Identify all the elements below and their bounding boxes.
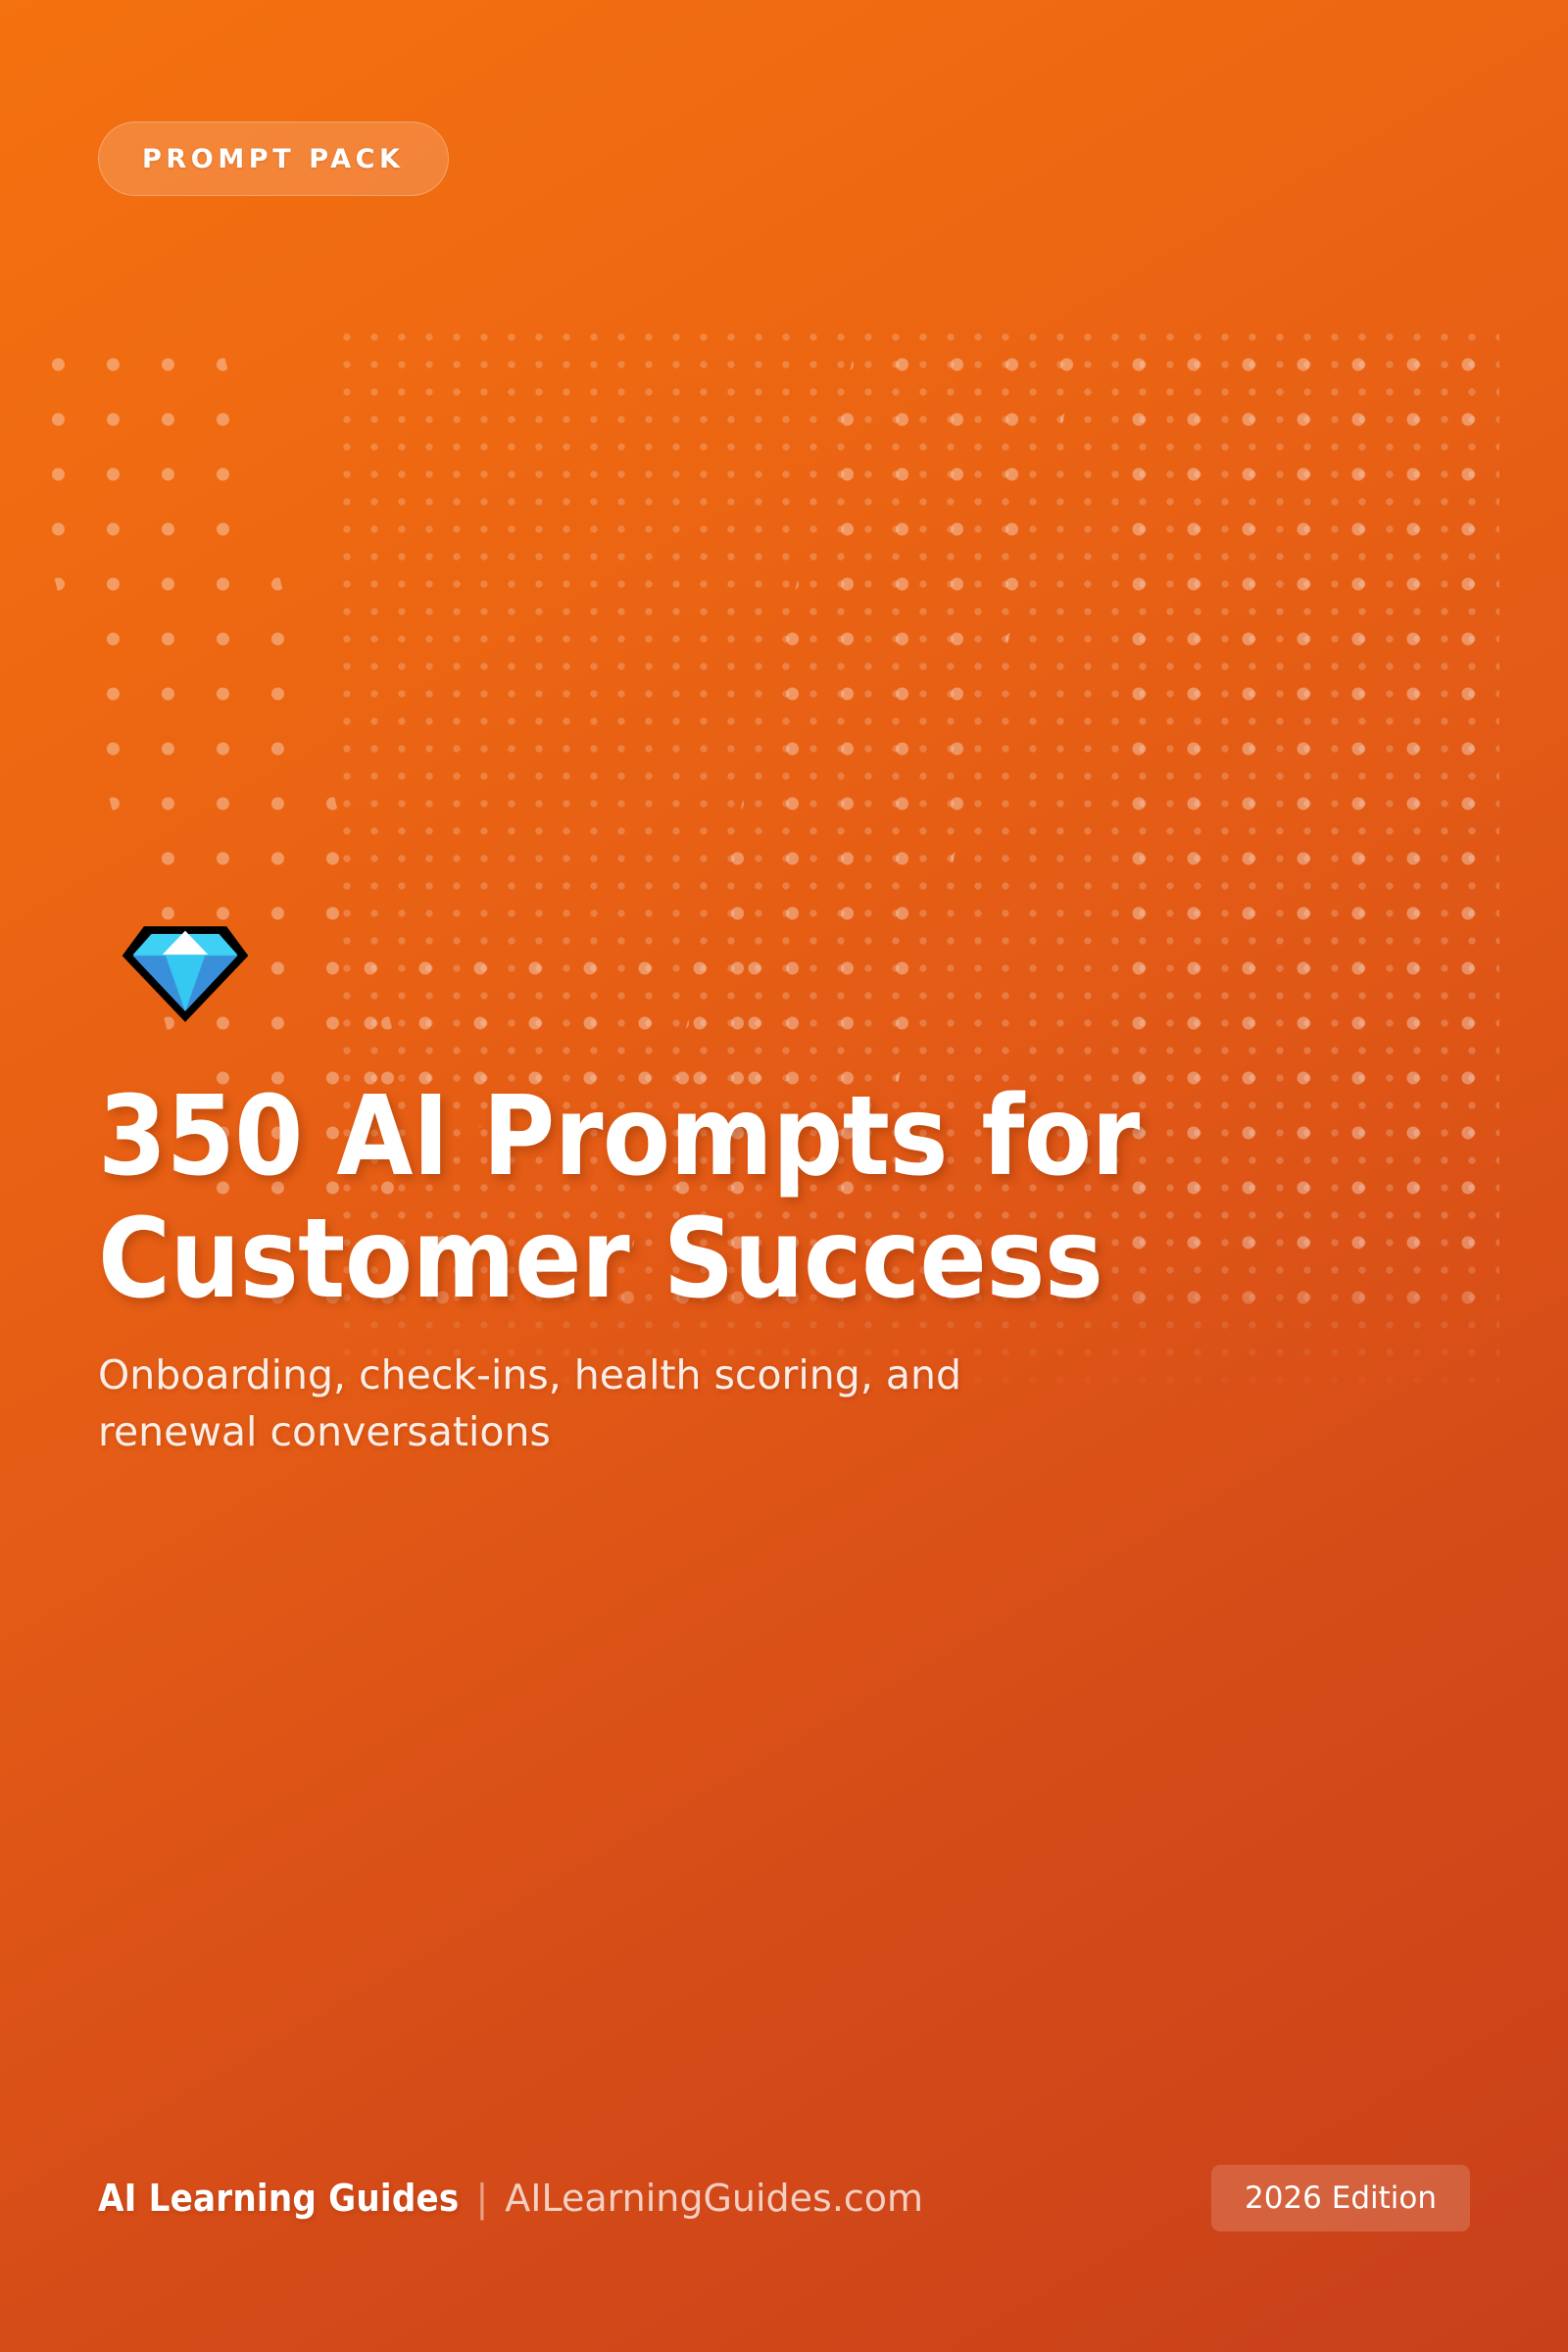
hero-text-block: 350 AI Prompts for Customer Success Onbo…: [98, 1076, 1254, 1460]
brand-website: AILearningGuides.com: [505, 2177, 923, 2220]
page-title: 350 AI Prompts for Customer Success: [98, 1076, 1254, 1321]
title-line-2: Customer Success: [98, 1196, 1102, 1323]
page-subtitle: Onboarding, check-ins, health scoring, a…: [98, 1347, 1107, 1460]
edition-badge-label: 2026 Edition: [1245, 2180, 1437, 2216]
diamond-icon: [116, 894, 255, 1033]
brand-line: AI Learning Guides | AILearningGuides.co…: [98, 2177, 923, 2220]
brand-separator: |: [475, 2177, 488, 2220]
title-line-1: 350 AI Prompts for: [98, 1073, 1140, 1200]
brand-name: AI Learning Guides: [98, 2177, 459, 2220]
prompt-pack-badge-label: PROMPT PACK: [142, 144, 405, 174]
edition-badge: 2026 Edition: [1211, 2165, 1470, 2231]
book-cover: PROMPT PACK 350 AI Prompts for Customer …: [0, 0, 1568, 2352]
prompt-pack-badge: PROMPT PACK: [98, 122, 449, 196]
cover-footer: AI Learning Guides | AILearningGuides.co…: [98, 2165, 1470, 2231]
